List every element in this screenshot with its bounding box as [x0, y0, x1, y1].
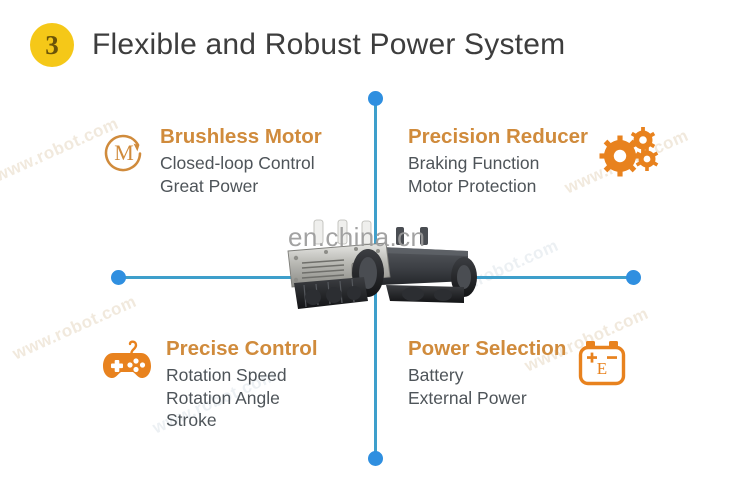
gears-icon: [598, 126, 660, 183]
step-number-badge: 3: [30, 23, 74, 67]
gamepad-icon: [100, 340, 154, 391]
axis-endpoint-dot-bottom: [368, 451, 383, 466]
feature-block-precise-control: Precise Control Rotation Speed Rotation …: [100, 338, 318, 432]
battery-icon: E: [576, 338, 628, 393]
slide-canvas: www.robot.com www.robot.com www.robot.co…: [0, 0, 750, 493]
feature-line: Stroke: [166, 409, 318, 432]
feature-block-brushless-motor: M Brushless Motor Closed-loop Control Gr…: [100, 126, 322, 197]
feature-heading: Precision Reducer: [408, 126, 588, 149]
battery-icon-letter: E: [597, 359, 607, 378]
feature-text-brushless-motor: Brushless Motor Closed-loop Control Grea…: [160, 126, 322, 197]
axis-endpoint-dot-left: [111, 270, 126, 285]
feature-text-precision-reducer: Precision Reducer Braking Function Motor…: [408, 126, 588, 197]
feature-heading: Precise Control: [166, 338, 318, 361]
feature-line: Closed-loop Control: [160, 152, 322, 175]
motor-circle-arrow-icon: M: [100, 128, 148, 181]
motor-icon-letter: M: [114, 140, 134, 165]
feature-line: Great Power: [160, 175, 322, 198]
page-title: Flexible and Robust Power System: [92, 28, 565, 62]
feature-line: Rotation Angle: [166, 387, 318, 410]
feature-block-precision-reducer: Precision Reducer Braking Function Motor…: [408, 126, 660, 197]
feature-block-power-selection: Power Selection Battery External Power E: [408, 338, 628, 409]
feature-line: Motor Protection: [408, 175, 588, 198]
axis-endpoint-dot-right: [626, 270, 641, 285]
feature-heading: Power Selection: [408, 338, 566, 361]
feature-line: External Power: [408, 387, 566, 410]
product-photo-watermark: en.china.cn: [288, 222, 425, 253]
axis-endpoint-dot-top: [368, 91, 383, 106]
feature-line: Braking Function: [408, 152, 588, 175]
feature-text-power-selection: Power Selection Battery External Power: [408, 338, 566, 409]
feature-heading: Brushless Motor: [160, 126, 322, 149]
feature-line: Battery: [408, 364, 566, 387]
slide-header: 3 Flexible and Robust Power System: [30, 23, 565, 67]
feature-line: Rotation Speed: [166, 364, 318, 387]
feature-text-precise-control: Precise Control Rotation Speed Rotation …: [166, 338, 318, 432]
